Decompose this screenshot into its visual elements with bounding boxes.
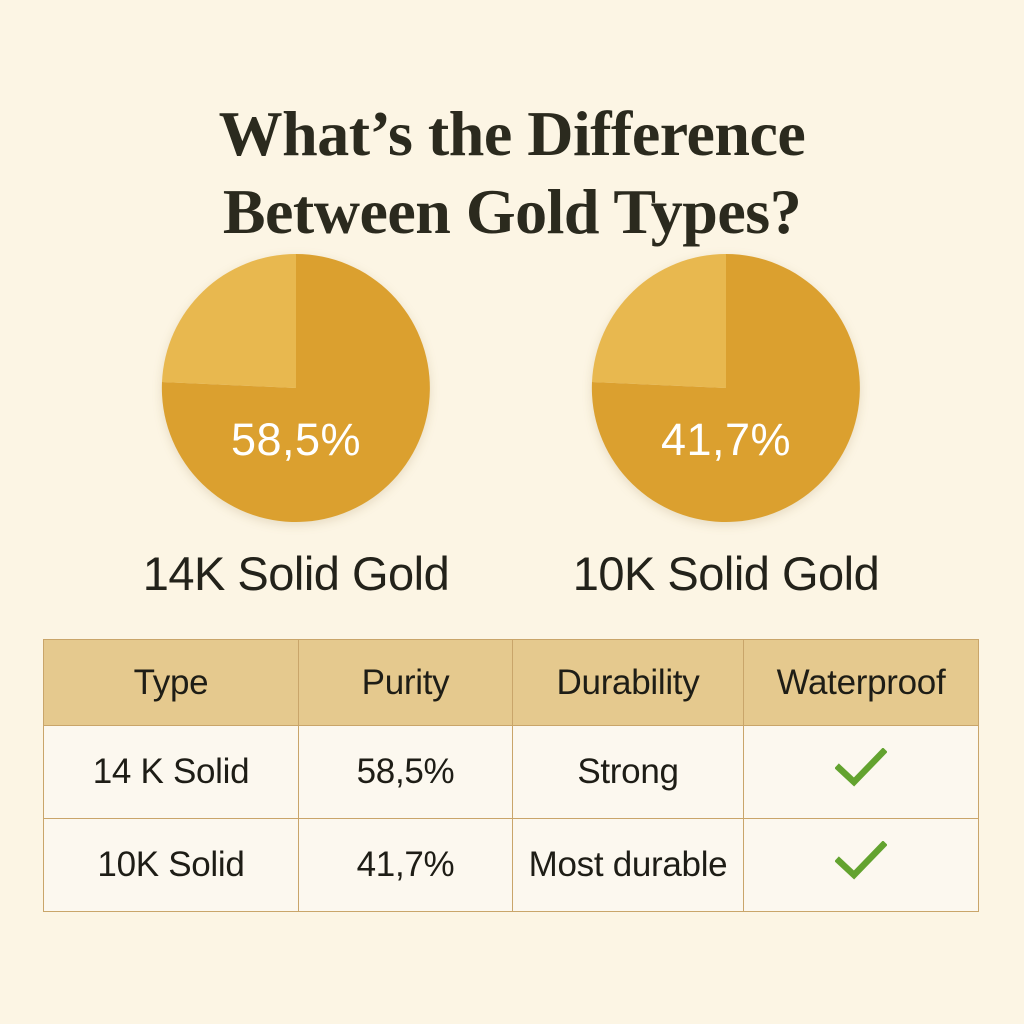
cell-type: 10K Solid [44,819,299,912]
column-header-type: Type [44,640,299,726]
table-header-row: Type Purity Durability Waterproof [44,640,979,726]
comparison-table: Type Purity Durability Waterproof 14 K S… [43,639,979,912]
pie-value-label-14k: 58,5% [160,414,432,466]
pie-svg-10k [590,252,862,524]
pie-chart-block-10k: 41,7% 10K Solid Gold [511,252,941,601]
cell-purity: 58,5% [299,726,513,819]
column-header-waterproof: Waterproof [744,640,979,726]
column-header-purity: Purity [299,640,513,726]
table-row: 14 K Solid 58,5% Strong [44,726,979,819]
title-line-1: What’s the Difference [0,95,1024,173]
cell-waterproof [744,726,979,819]
check-icon [835,841,887,881]
page-title: What’s the Difference Between Gold Types… [0,95,1024,251]
pie-caption-14k: 14K Solid Gold [81,546,511,601]
cell-durability: Strong [513,726,744,819]
cell-type: 14 K Solid [44,726,299,819]
pie-value-label-10k: 41,7% [590,414,862,466]
cell-waterproof [744,819,979,912]
pie-caption-10k: 10K Solid Gold [511,546,941,601]
pie-chart-14k: 58,5% [160,252,432,524]
cell-purity: 41,7% [299,819,513,912]
check-icon [835,748,887,788]
pie-svg-14k [160,252,432,524]
title-line-2: Between Gold Types? [0,173,1024,251]
pie-slice-minor-14k [162,254,296,388]
pie-chart-block-14k: 58,5% 14K Solid Gold [81,252,511,601]
pie-chart-10k: 41,7% [590,252,862,524]
column-header-durability: Durability [513,640,744,726]
table-row: 10K Solid 41,7% Most durable [44,819,979,912]
cell-durability: Most durable [513,819,744,912]
pie-slice-minor-10k [592,254,726,388]
